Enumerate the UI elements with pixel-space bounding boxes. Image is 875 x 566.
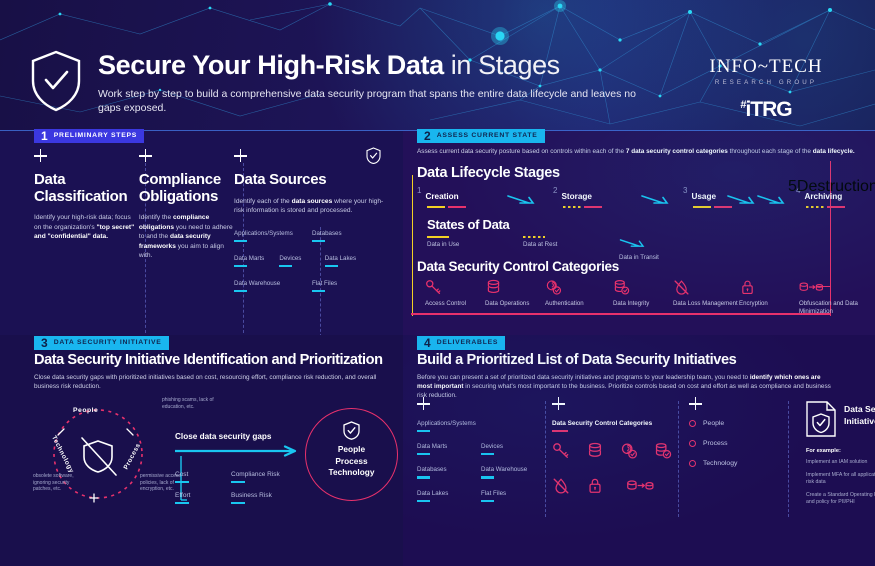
underline (231, 481, 245, 483)
dot-icon (689, 460, 696, 467)
examples-block: For example: Implement an IAM solution I… (806, 448, 875, 506)
section-1-number: 1 (34, 129, 54, 143)
section-1-badge: 1 PRELIMINARY STEPS (34, 129, 144, 143)
gap-metric: Compliance Risk (231, 471, 280, 483)
database-stack-icon (485, 279, 545, 297)
ppt-item-people: People (689, 420, 759, 427)
bar-pink (584, 206, 602, 208)
bar-yellow-dotted (563, 206, 581, 208)
database-check-icon (654, 442, 688, 465)
ppt-label: Technology (703, 460, 737, 467)
data-source-label: Data Warehouse (481, 466, 527, 473)
gap-title: Close data security gaps (175, 432, 310, 441)
state-data-in-transit: Data in Transit (619, 236, 659, 261)
section-4-description: Before you can present a set of prioriti… (417, 373, 837, 400)
underline (481, 476, 494, 478)
underline (175, 481, 189, 483)
underline (481, 500, 494, 502)
data-source-item: Databases (312, 230, 372, 242)
gap-metric: Cost (175, 471, 231, 483)
section-2-number: 2 (417, 129, 437, 143)
for-example-label: For example: (806, 448, 875, 454)
underline (417, 453, 430, 455)
data-source-label: Applications/Systems (417, 420, 476, 427)
stage-number: 3 (683, 186, 687, 195)
underline (552, 430, 568, 432)
database-transform-icon (620, 477, 688, 500)
lifecycle-stage-3: 3Usage (683, 186, 732, 208)
state-data-in-use: Data in Use (427, 236, 459, 248)
data-source-label: Data Lakes (325, 255, 384, 262)
data-source-item: Devices (279, 255, 324, 267)
underline (234, 290, 247, 292)
deliverable-column-data-sources: Applications/Systems Data Marts Devices … (417, 397, 552, 513)
bar-pink (714, 206, 732, 208)
bar-yellow-dotted (806, 206, 824, 208)
result-line-people: People (305, 444, 398, 456)
infographic-page: Secure Your High-Risk Data in Stages Wor… (0, 0, 875, 566)
stage-number: 1 (417, 186, 421, 195)
data-source-label: Data Marts (417, 443, 481, 450)
bar-yellow (427, 236, 449, 238)
gap-metrics: Cost Compliance Risk Effort Business Ris… (175, 471, 310, 504)
category-label: Data Integrity (613, 300, 673, 308)
underline (312, 240, 325, 242)
people-process-technology-result: People Process Technology (305, 408, 398, 501)
key-icon (425, 279, 485, 297)
states-of-data-list: Data in Use Data at Rest Data in Transit (427, 236, 847, 258)
category-encryption: Encryption (739, 279, 799, 308)
underline (417, 476, 430, 478)
ppt-label: People (703, 420, 724, 427)
title-light: in Stages (444, 50, 560, 80)
data-source-label: Devices (481, 443, 503, 450)
data-source-item: Data Marts (234, 255, 279, 267)
data-source-item: Devices (481, 443, 503, 455)
section-preliminary-steps: 1 PRELIMINARY STEPS Data Classification … (0, 131, 403, 335)
venn-note-technology: obsolete software, ignoring security pat… (33, 473, 85, 493)
category-data-integrity: Data Integrity (613, 279, 673, 308)
lifecycle-stage-2: 2Storage (553, 186, 602, 208)
venn-label-people: People (73, 407, 98, 414)
header-banner: Secure Your High-Risk Data in Stages Wor… (0, 0, 875, 131)
section-3-title: Data Security Initiative Identification … (34, 352, 394, 368)
underline (234, 265, 247, 267)
underline (481, 453, 494, 455)
page-title: Secure Your High-Risk Data in Stages (98, 50, 643, 80)
bar-pink (827, 206, 845, 208)
data-source-label: Databases (417, 466, 481, 473)
deliverable-column-ppt: People Process Technology (689, 397, 759, 513)
section-2-badge: 2 ASSESS CURRENT STATE (417, 129, 545, 143)
arrow-icon (641, 195, 673, 205)
plus-icon (234, 149, 247, 162)
data-source-item: Data Warehouse (481, 466, 527, 478)
section-2-description: Assess current data security posture bas… (417, 147, 869, 156)
stage-number: 2 (553, 186, 557, 195)
data-source-item: Data Lakes (325, 255, 384, 267)
arrow-icon (619, 239, 649, 248)
data-source-label: Data Warehouse (234, 280, 312, 287)
venn-note-people: phishing scams, lack of education, etc. (162, 397, 228, 410)
bar-yellow (693, 206, 711, 208)
state-data-at-rest: Data at Rest (523, 236, 557, 248)
stage-name: Usage (691, 192, 716, 201)
fingerprint-check-icon (545, 279, 615, 297)
key-icon (552, 442, 586, 465)
arrow-icon (175, 445, 303, 457)
gap-metric: Business Risk (231, 492, 272, 504)
ppt-item-process: Process (689, 440, 759, 447)
column-data-sources: Data Sources Identify each of the data s… (234, 149, 384, 305)
data-source-item: Data Marts (417, 443, 481, 455)
underline (279, 265, 292, 267)
data-source-label: Devices (279, 255, 324, 262)
lifecycle-stage-5: 5Destruction (788, 178, 875, 196)
result-line-technology: Technology (305, 467, 398, 479)
categories-label: Data Security Control Categories (552, 420, 689, 427)
stage-name: Storage (561, 192, 591, 201)
category-data-operations: Data Operations (485, 279, 545, 308)
plus-icon (552, 397, 565, 410)
data-source-label: Data Lakes (417, 490, 481, 497)
itrg-text: iTRG (745, 98, 791, 121)
padlock-icon (739, 279, 799, 297)
state-label: Data at Rest (523, 241, 557, 248)
title-bold: Secure Your High-Risk Data (98, 50, 444, 80)
info-tech-logo: INFO~TECH (681, 56, 851, 78)
stage-bars (427, 206, 466, 208)
example-item: Implement MFA for all applications that … (806, 472, 875, 486)
control-categories-list: Access Control Data Operations Authentic… (417, 279, 867, 325)
category-label: Encryption (739, 300, 799, 308)
category-obfuscation: Obfuscation and Data Minimization (799, 279, 867, 316)
padlock-icon (586, 477, 620, 500)
ppt-label: Process (703, 440, 728, 447)
data-source-item: Applications/Systems (234, 230, 312, 242)
data-security-initiatives-block: Data Security Initiatives For example: I… (806, 401, 875, 512)
section-deliverables: 4 DELIVERABLES Build a Prioritized List … (403, 335, 875, 566)
section-assess-current-state: 2 ASSESS CURRENT STATE Assess current da… (403, 131, 875, 335)
states-title: States of Data (427, 217, 847, 232)
underline (175, 502, 189, 504)
metric-label: Effort (175, 492, 231, 499)
category-access-control: Access Control (425, 279, 485, 308)
metric-label: Cost (175, 471, 231, 478)
info-tech-logo-subtitle: RESEARCH GROUP (681, 79, 851, 86)
category-label: Access Control (425, 300, 485, 308)
lifecycle-stage-1: 1Creation (417, 186, 466, 208)
stage-bars (693, 206, 732, 208)
itrg-logo: #iTRG (681, 98, 851, 122)
metric-label: Business Risk (231, 492, 272, 499)
underline (417, 500, 430, 502)
state-label: Data in Use (427, 241, 459, 248)
shield-check-icon (343, 421, 360, 440)
database-transform-icon (799, 279, 867, 297)
stage-name: Destruction (797, 178, 875, 195)
arrow-icon (757, 195, 789, 205)
column-body: Identify your high-risk data; focus on t… (34, 213, 139, 242)
column-body: Identify each of the data sources where … (234, 197, 384, 216)
data-source-label: Flat Files (312, 280, 372, 287)
section-4-title: Build a Prioritized List of Data Securit… (417, 352, 872, 368)
stage-number: 5 (788, 178, 797, 195)
column-title: Data Classification (34, 172, 139, 205)
section-3-description: Close data security gaps with prioritize… (34, 373, 379, 391)
column-compliance-obligations: Compliance Obligations Identify the comp… (139, 149, 234, 305)
bar-yellow-dotted (523, 236, 545, 238)
initiatives-title: Data Security Initiatives (844, 401, 875, 427)
arrow-icon (507, 195, 539, 205)
dot-icon (689, 440, 696, 447)
category-icon-grid (552, 442, 689, 500)
metric-label: Compliance Risk (231, 471, 280, 478)
result-line-process: Process (305, 456, 398, 468)
data-source-label: Flat Files (481, 490, 506, 497)
no-leak-icon (673, 279, 739, 297)
close-gaps-block: Close data security gaps Cost Compliance… (175, 432, 310, 513)
data-source-item: Data Lakes (417, 490, 481, 502)
no-leak-icon (552, 477, 586, 500)
deliverable-column-control-categories: Data Security Control Categories (552, 397, 689, 513)
underline (325, 265, 338, 267)
section-2-label: ASSESS CURRENT STATE (437, 129, 538, 143)
gap-metric: Effort (175, 492, 231, 504)
category-label: Data Loss Management (673, 300, 739, 308)
underline (417, 430, 430, 432)
column-title: Data Sources (234, 172, 384, 189)
underline (234, 240, 247, 242)
result-labels: People Process Technology (305, 444, 398, 479)
stage-bars (563, 206, 602, 208)
column-title: Compliance Obligations (139, 172, 234, 205)
fingerprint-check-icon (620, 442, 654, 465)
plus-icon (139, 149, 152, 162)
data-source-item: Databases (417, 466, 481, 478)
data-source-item: Flat Files (312, 280, 372, 292)
data-source-item: Flat Files (481, 490, 506, 502)
column-data-classification: Data Classification Identify your high-r… (34, 149, 139, 305)
data-sources-list: Applications/Systems Databases Data Mart… (234, 230, 384, 306)
arrow-icon (727, 195, 759, 205)
dot-icon (689, 420, 696, 427)
database-stack-icon (586, 442, 620, 465)
underline (312, 290, 325, 292)
stage-bars (806, 206, 845, 208)
bar-yellow (427, 206, 445, 208)
categories-title: Data Security Control Categories (417, 259, 867, 274)
plus-icon (34, 149, 47, 162)
category-label: Authentication (545, 300, 615, 308)
data-source-item: Applications/Systems (417, 420, 476, 432)
column-body: Identify the compliance obligations you … (139, 213, 234, 261)
data-source-label: Data Marts (234, 255, 279, 262)
section-1-label: PRELIMINARY STEPS (54, 129, 137, 143)
bar-pink (448, 206, 466, 208)
page-subtitle: Work step by step to build a comprehensi… (98, 87, 643, 115)
stage-name: Creation (425, 192, 458, 201)
logo-block: INFO~TECH RESEARCH GROUP #iTRG (681, 56, 851, 122)
shield-check-icon (30, 50, 82, 112)
category-label: Data Operations (485, 300, 545, 308)
data-source-item: Data Warehouse (234, 280, 312, 292)
example-item: Create a Standard Operating Procedure do… (806, 492, 875, 506)
underline (231, 502, 245, 504)
data-source-label: Databases (312, 230, 372, 237)
category-data-loss-management: Data Loss Management (673, 279, 739, 308)
data-source-label: Applications/Systems (234, 230, 312, 237)
example-item: Implement an IAM solution (806, 459, 875, 466)
document-shield-icon (806, 401, 836, 437)
category-label: Obfuscation and Data Minimization (799, 300, 867, 316)
database-check-icon (613, 279, 673, 297)
ppt-item-technology: Technology (689, 460, 759, 467)
plus-icon (417, 397, 430, 410)
category-authentication: Authentication (545, 279, 615, 308)
plus-icon (689, 397, 702, 410)
